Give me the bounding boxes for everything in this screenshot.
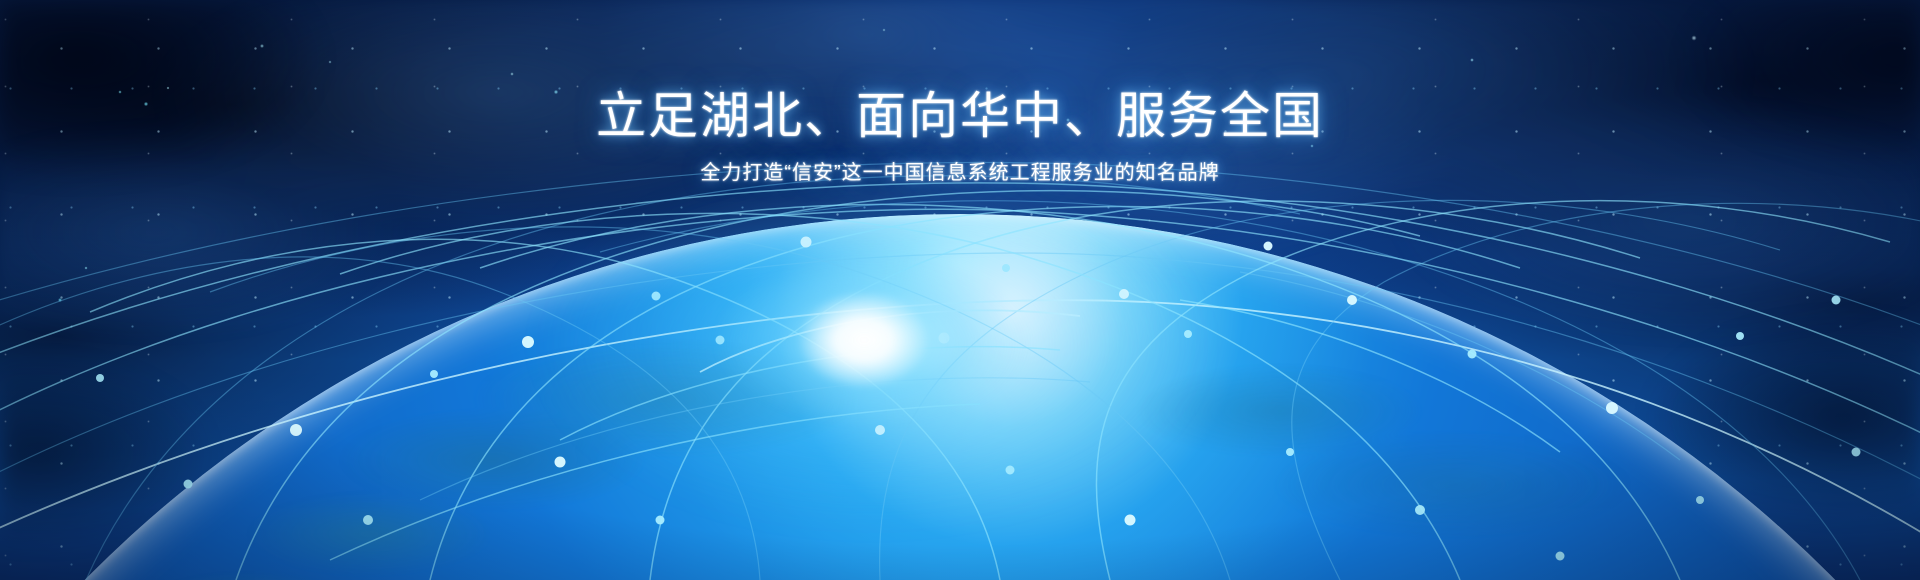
hero-banner: 立足湖北、面向华中、服务全国 全力打造“信安”这一中国信息系统工程服务业的知名品… xyxy=(0,0,1920,580)
network-node xyxy=(1852,448,1861,457)
network-node xyxy=(1696,496,1704,504)
banner-text-block: 立足湖北、面向华中、服务全国 全力打造“信安”这一中国信息系统工程服务业的知名品… xyxy=(0,88,1920,186)
page-title: 立足湖北、面向华中、服务全国 xyxy=(0,88,1920,144)
page-subtitle: 全力打造“信安”这一中国信息系统工程服务业的知名品牌 xyxy=(0,160,1920,186)
network-node xyxy=(363,515,373,525)
network-node xyxy=(290,424,302,436)
network-node xyxy=(184,480,193,489)
network-arc xyxy=(1292,203,1920,580)
network-node xyxy=(1468,350,1477,359)
network-node xyxy=(1556,552,1565,561)
network-node xyxy=(1347,295,1357,305)
central-light-burst xyxy=(662,210,1082,470)
network-node xyxy=(1832,296,1841,305)
network-node xyxy=(1415,505,1425,515)
network-node xyxy=(1606,402,1618,414)
network-node xyxy=(1736,332,1744,340)
network-node xyxy=(96,374,104,382)
